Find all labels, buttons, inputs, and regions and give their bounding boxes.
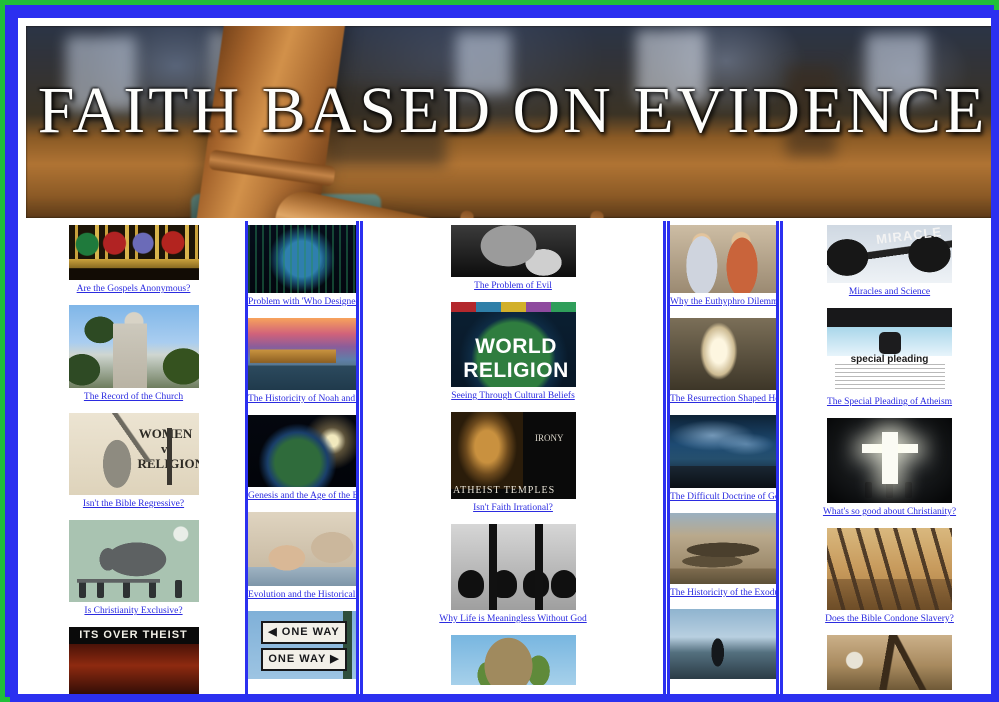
link-caption[interactable]: The Special Pleading of Atheism [783, 393, 996, 409]
religion-color-strip [451, 302, 576, 312]
storm-clouds-road-image[interactable] [670, 415, 776, 488]
one-way-sign-right: ONE WAY ▶ [261, 648, 347, 671]
figure-silhouette [175, 580, 182, 598]
figure-silhouette [149, 580, 156, 598]
link-caption[interactable]: Does the Bible Condone Slavery? [783, 610, 996, 626]
tree-silhouette [551, 570, 576, 598]
site-banner: FAITH BASED ON EVIDENCE [26, 26, 999, 218]
atheist-temples-overlay-text: ATHEIST TEMPLES [453, 485, 555, 496]
link-card[interactable]: The Historicity of the Exodus [670, 513, 776, 600]
link-card[interactable]: special pleading The Special Pleading of… [783, 308, 996, 409]
link-card[interactable]: Is Christianity Exclusive? [26, 520, 241, 618]
site-title: FAITH BASED ON EVIDENCE [26, 73, 999, 149]
page-inner: FAITH BASED ON EVIDENCE Are the Gospels … [10, 10, 999, 702]
link-card[interactable]: ATHEIST TEMPLES IRONY Isn't Faith Irrati… [363, 412, 663, 515]
page-frame: FAITH BASED ON EVIDENCE Are the Gospels … [0, 0, 999, 702]
column-2: Problem with 'Who Designed the Designer'… [245, 221, 359, 702]
link-card[interactable]: The Record of the Church [26, 305, 241, 404]
link-card[interactable]: WORLD RELIGION Seeing Through Cultural B… [363, 302, 663, 403]
figure-silhouette [886, 482, 893, 498]
glowing-cross-image[interactable] [827, 418, 952, 503]
empty-tomb-image[interactable] [670, 318, 776, 390]
figure-silhouette [905, 482, 912, 498]
column-5: MIRACLE Miracles and Science special ple… [780, 221, 999, 702]
figure-silhouette [865, 482, 872, 498]
link-card[interactable]: WOMENv.RELIGION Isn't the Bible Regressi… [26, 413, 241, 511]
cross-arm [862, 444, 918, 453]
link-card[interactable]: Are the Gospels Anonymous? [26, 225, 241, 296]
infographic-top-bar [827, 308, 952, 327]
link-card[interactable]: MIRACLE Miracles and Science [783, 225, 996, 299]
miracle-banner-hands-image[interactable]: MIRACLE [827, 225, 952, 283]
its-over-theist-image[interactable]: ITS OVER THEIST [69, 627, 199, 697]
infographic-body-text [835, 364, 945, 390]
crucifixion-scene-image[interactable] [827, 635, 952, 690]
link-caption[interactable]: Genesis and the Age of the Earth [248, 487, 356, 503]
trees-behind-bars-image[interactable] [451, 524, 576, 610]
link-card[interactable] [670, 609, 776, 679]
link-caption[interactable]: Isn't the Bible Regressive? [26, 495, 241, 511]
irony-overlay-text: IRONY [527, 433, 572, 443]
link-caption[interactable]: The Historicity of the Exodus [670, 584, 776, 600]
tree-silhouette [458, 570, 484, 598]
link-card[interactable]: The Problem of Evil [363, 225, 663, 293]
link-card[interactable]: The Historicity of Noah and the Flood [248, 318, 356, 406]
noahs-ark-sunset-image[interactable] [248, 318, 356, 390]
link-card[interactable]: Does the Bible Condone Slavery? [783, 528, 996, 626]
link-caption[interactable]: The Difficult Doctrine of God's Judgment [670, 488, 776, 504]
link-caption[interactable]: The Record of the Church [26, 388, 241, 404]
link-caption[interactable]: Isn't Faith Irrational? [363, 499, 663, 515]
link-card[interactable] [783, 635, 996, 690]
link-caption[interactable]: Evolution and the Historical Adam [248, 586, 356, 602]
column-1: Are the Gospels Anonymous? The Record of… [26, 221, 241, 702]
its-over-theist-overlay-text: ITS OVER THEIST [69, 629, 199, 641]
fallacy-badge-icon [879, 332, 901, 354]
link-caption[interactable]: The Problem of Evil [363, 277, 663, 293]
atheist-temples-image[interactable]: ATHEIST TEMPLES IRONY [451, 412, 576, 499]
church-steeple-image[interactable] [69, 305, 199, 388]
one-way-signs-image[interactable]: ◀ ONE WAY ONE WAY ▶ [248, 611, 356, 679]
link-caption[interactable]: Miracles and Science [783, 283, 996, 299]
stained-glass-windows-image[interactable] [69, 225, 199, 280]
link-caption[interactable]: What's so good about Christianity? [783, 503, 996, 519]
crying-child-image[interactable] [451, 225, 576, 277]
women-v-religion-overlay-text: WOMENv.RELIGION [138, 426, 194, 471]
tree-silhouette [523, 570, 549, 598]
link-caption[interactable]: Are the Gospels Anonymous? [26, 280, 241, 296]
link-card[interactable] [363, 635, 663, 685]
link-caption[interactable]: Why the Euthyphro Dilemma Fails [670, 293, 776, 309]
miracle-overlay-text: MIRACLE [875, 225, 943, 247]
one-way-sign-left: ◀ ONE WAY [261, 621, 347, 644]
special-pleading-infographic-image[interactable]: special pleading [827, 308, 952, 393]
link-card[interactable]: Why the Euthyphro Dilemma Fails [670, 225, 776, 309]
column-3: The Problem of Evil WORLD RELIGION Seein… [360, 221, 666, 702]
link-card[interactable]: Evolution and the Historical Adam [248, 512, 356, 602]
link-caption[interactable]: Problem with 'Who Designed the Designer' [248, 293, 356, 309]
link-card[interactable]: What's so good about Christianity? [783, 418, 996, 519]
link-caption[interactable]: The Historicity of Noah and the Flood [248, 390, 356, 406]
figure-silhouette [97, 580, 104, 598]
women-v-religion-image[interactable]: WOMENv.RELIGION [69, 413, 199, 495]
earth-from-space-image[interactable] [248, 415, 356, 487]
link-caption[interactable]: The Resurrection Shaped Hole in History [670, 390, 776, 406]
link-card[interactable]: ITS OVER THEIST [26, 627, 241, 697]
world-religion-globe-image[interactable]: WORLD RELIGION [451, 302, 576, 387]
man-looking-at-lake-image[interactable] [670, 609, 776, 679]
world-religion-overlay-text: WORLD RELIGION [457, 335, 576, 383]
figure-silhouette [79, 580, 86, 598]
plato-and-aristotle-image[interactable] [670, 225, 776, 293]
exodus-crowd-desert-image[interactable] [670, 513, 776, 584]
matrix-earth-image[interactable] [248, 225, 356, 293]
slaves-carrying-beams-image[interactable] [827, 528, 952, 610]
link-card[interactable]: The Difficult Doctrine of God's Judgment [670, 415, 776, 504]
link-caption[interactable]: Seeing Through Cultural Beliefs [363, 387, 663, 403]
link-card[interactable]: Genesis and the Age of the Earth [248, 415, 356, 503]
column-4: Why the Euthyphro Dilemma Fails The Resu… [667, 221, 779, 702]
link-card[interactable]: Problem with 'Who Designed the Designer' [248, 225, 356, 309]
link-card[interactable]: ◀ ONE WAY ONE WAY ▶ [248, 611, 356, 679]
link-card[interactable]: The Resurrection Shaped Hole in History [670, 318, 776, 406]
tree-silhouette [491, 570, 517, 598]
link-card[interactable]: Why Life is Meaningless Without God [363, 524, 663, 626]
blind-men-and-elephant-image[interactable] [69, 520, 199, 602]
cactus-blue-sky-image[interactable] [451, 635, 576, 685]
link-columns: Are the Gospels Anonymous? The Record of… [26, 221, 999, 702]
link-caption[interactable]: Why Life is Meaningless Without God [363, 610, 663, 626]
figure-silhouette [123, 580, 130, 598]
link-caption[interactable]: Is Christianity Exclusive? [26, 602, 241, 618]
creation-of-adam-image[interactable] [248, 512, 356, 586]
